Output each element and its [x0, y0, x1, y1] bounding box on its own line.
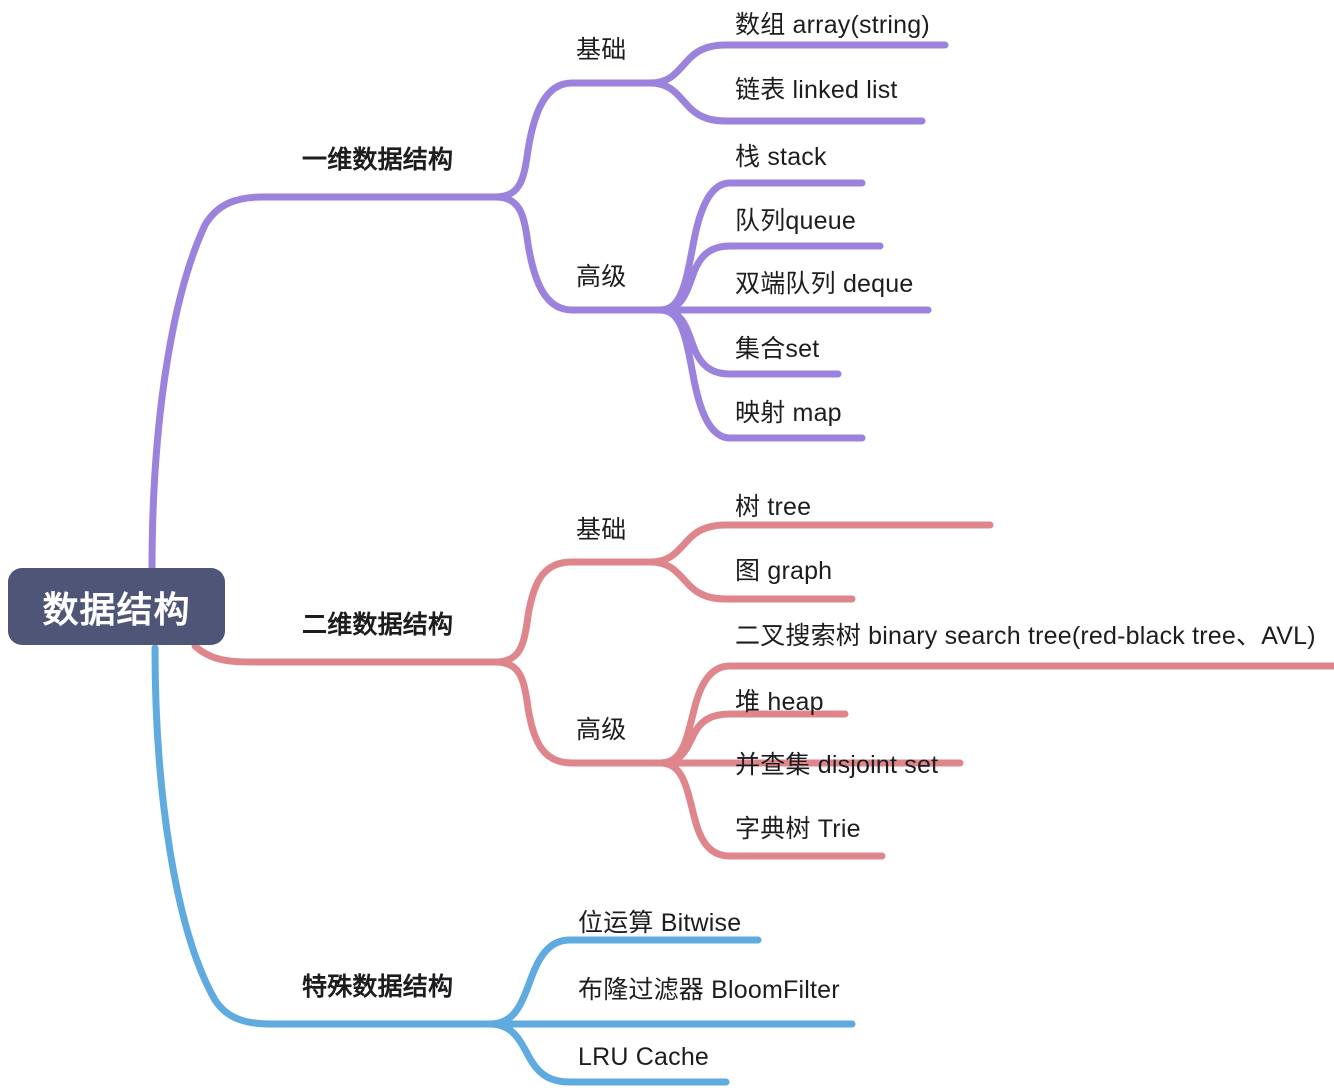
leaf-label-bloomfilter[interactable]: 布隆过滤器 BloomFilter: [578, 978, 840, 1003]
wire-1d-to-basic: [495, 83, 650, 197]
leaf-label-lru-cache[interactable]: LRU Cache: [578, 1045, 709, 1070]
group-label-basic-2d[interactable]: 基础: [576, 518, 626, 543]
branch-label-two-dimensional[interactable]: 二维数据结构: [302, 613, 453, 638]
leaf-label-graph[interactable]: 图 graph: [735, 559, 832, 584]
leaf-label-stack[interactable]: 栈 stack: [735, 145, 827, 170]
root-node-label: 数据结构: [42, 581, 190, 633]
wire-2d-to-advanced: [495, 662, 660, 763]
wire-root-to-two-dimensional: [195, 646, 495, 662]
leaf-label-queue[interactable]: 队列queue: [735, 209, 856, 234]
leaf-label-bitwise[interactable]: 位运算 Bitwise: [578, 911, 741, 936]
branch-label-special[interactable]: 特殊数据结构: [302, 975, 453, 1000]
group-label-advanced-2d[interactable]: 高级: [576, 718, 626, 743]
leaf-label-disjoint-set[interactable]: 并查集 disjoint set: [735, 753, 938, 778]
leaf-label-tree[interactable]: 树 tree: [735, 495, 811, 520]
root-node[interactable]: 数据结构: [8, 568, 225, 645]
leaf-label-trie[interactable]: 字典树 Trie: [735, 817, 861, 842]
wire-1d-to-advanced: [495, 197, 660, 310]
leaf-label-array[interactable]: 数组 array(string): [735, 13, 930, 38]
wire-2d-to-basic: [495, 562, 650, 662]
branch-wires-one-dimensional: [152, 45, 945, 570]
group-label-advanced-1d[interactable]: 高级: [576, 265, 626, 290]
branch-label-one-dimensional[interactable]: 一维数据结构: [302, 148, 453, 173]
group-label-basic-1d[interactable]: 基础: [576, 38, 626, 63]
leaf-label-map[interactable]: 映射 map: [735, 401, 842, 426]
leaf-label-deque[interactable]: 双端队列 deque: [735, 272, 913, 297]
leaf-label-heap[interactable]: 堆 heap: [735, 690, 824, 715]
wire-root-to-one-dimensional: [152, 197, 495, 570]
leaf-label-linked-list[interactable]: 链表 linked list: [735, 78, 898, 103]
leaf-label-set[interactable]: 集合set: [735, 337, 819, 362]
mindmap-canvas: 数据结构 一维数据结构 二维数据结构 特殊数据结构 基础 高级 基础 高级 数组…: [0, 0, 1334, 1088]
leaf-label-binary-search-tree[interactable]: 二叉搜索树 binary search tree(red-black tree、…: [735, 624, 1316, 649]
wire-root-to-special: [155, 648, 490, 1024]
